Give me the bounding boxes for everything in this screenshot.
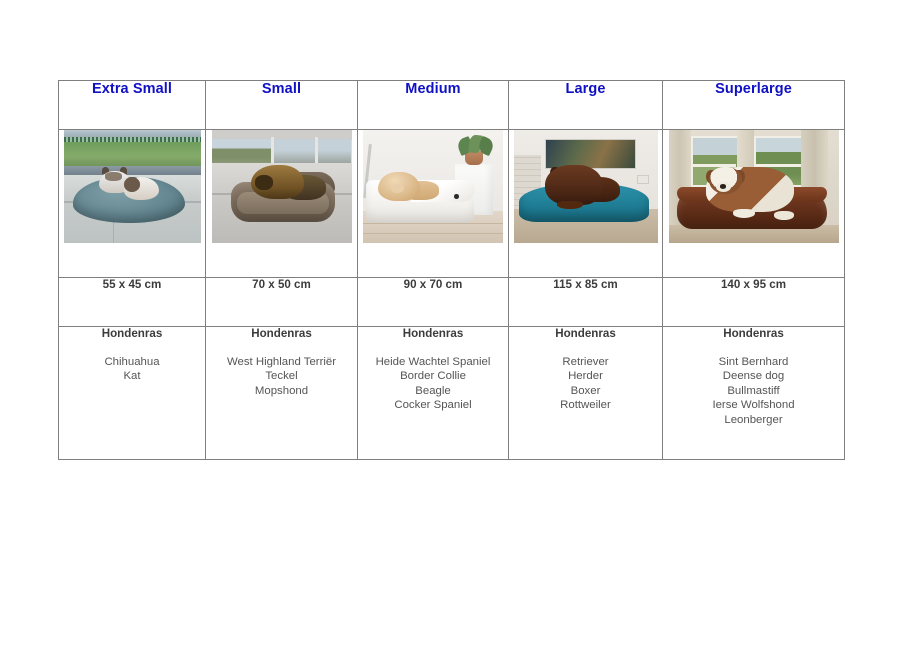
list-item: Mopshond <box>206 384 357 398</box>
list-item: Boxer <box>509 384 662 398</box>
photo-large <box>514 130 658 243</box>
size-label-medium: Medium <box>358 81 508 97</box>
breed-heading-extra-small: Hondenras <box>59 327 205 340</box>
dimension-medium: 90 x 70 cm <box>358 278 508 291</box>
header-cell-large: Large <box>509 81 663 130</box>
list-item: Bullmastiff <box>663 384 844 398</box>
dimension-cell-extra-small: 55 x 45 cm <box>59 278 206 327</box>
list-item: Herder <box>509 369 662 383</box>
dimension-superlarge: 140 x 95 cm <box>663 278 844 291</box>
list-item: Teckel <box>206 369 357 383</box>
breed-list-superlarge: Sint Bernhard Deense dog Bullmastiff Ier… <box>663 355 844 427</box>
page-canvas: Extra Small Small Medium Large Superlarg… <box>0 0 900 660</box>
size-label-large: Large <box>509 81 662 97</box>
breed-list-medium: Heide Wachtel Spaniel Border Collie Beag… <box>358 355 508 413</box>
photo-extra-small <box>64 130 201 243</box>
breed-list-large: Retriever Herder Boxer Rottweiler <box>509 355 662 413</box>
list-item: Leonberger <box>663 413 844 427</box>
size-label-superlarge: Superlarge <box>663 81 844 97</box>
breed-list-extra-small: Chihuahua Kat <box>59 355 205 384</box>
breed-heading-superlarge: Hondenras <box>663 327 844 340</box>
size-label-small: Small <box>206 81 357 97</box>
list-item: Beagle <box>358 384 508 398</box>
breed-cell-large: Hondenras Retriever Herder Boxer Rottwei… <box>509 327 663 460</box>
size-label-extra-small: Extra Small <box>59 81 205 97</box>
list-item: Ierse Wolfshond <box>663 398 844 412</box>
list-item: Retriever <box>509 355 662 369</box>
table-row-photos <box>59 130 845 278</box>
photo-cell-medium <box>358 130 509 278</box>
photo-cell-large <box>509 130 663 278</box>
dimension-extra-small: 55 x 45 cm <box>59 278 205 291</box>
list-item: Border Collie <box>358 369 508 383</box>
dog-bed-size-table: Extra Small Small Medium Large Superlarg… <box>58 80 845 460</box>
photo-medium <box>363 130 503 243</box>
list-item: Chihuahua <box>59 355 205 369</box>
table-row-size-labels: Extra Small Small Medium Large Superlarg… <box>59 81 845 130</box>
photo-cell-extra-small <box>59 130 206 278</box>
dimension-small: 70 x 50 cm <box>206 278 357 291</box>
list-item: Kat <box>59 369 205 383</box>
list-item: Cocker Spaniel <box>358 398 508 412</box>
table-row-dimensions: 55 x 45 cm 70 x 50 cm 90 x 70 cm 115 x 8… <box>59 278 845 327</box>
dimension-cell-small: 70 x 50 cm <box>206 278 358 327</box>
header-cell-small: Small <box>206 81 358 130</box>
header-cell-superlarge: Superlarge <box>663 81 845 130</box>
list-item: Heide Wachtel Spaniel <box>358 355 508 369</box>
breed-heading-small: Hondenras <box>206 327 357 340</box>
photo-cell-superlarge <box>663 130 845 278</box>
header-cell-extra-small: Extra Small <box>59 81 206 130</box>
list-item: West Highland Terriër <box>206 355 357 369</box>
list-item: Sint Bernhard <box>663 355 844 369</box>
breed-cell-superlarge: Hondenras Sint Bernhard Deense dog Bullm… <box>663 327 845 460</box>
dimension-cell-large: 115 x 85 cm <box>509 278 663 327</box>
breed-heading-medium: Hondenras <box>358 327 508 340</box>
dimension-cell-superlarge: 140 x 95 cm <box>663 278 845 327</box>
list-item: Deense dog <box>663 369 844 383</box>
photo-superlarge <box>669 130 839 243</box>
dimension-large: 115 x 85 cm <box>509 278 662 291</box>
breed-cell-medium: Hondenras Heide Wachtel Spaniel Border C… <box>358 327 509 460</box>
photo-small <box>212 130 352 243</box>
breed-cell-extra-small: Hondenras Chihuahua Kat <box>59 327 206 460</box>
dimension-cell-medium: 90 x 70 cm <box>358 278 509 327</box>
breed-heading-large: Hondenras <box>509 327 662 340</box>
breed-list-small: West Highland Terriër Teckel Mopshond <box>206 355 357 398</box>
list-item: Rottweiler <box>509 398 662 412</box>
photo-cell-small <box>206 130 358 278</box>
breed-cell-small: Hondenras West Highland Terriër Teckel M… <box>206 327 358 460</box>
table-row-breeds: Hondenras Chihuahua Kat Hondenras West H… <box>59 327 845 460</box>
header-cell-medium: Medium <box>358 81 509 130</box>
